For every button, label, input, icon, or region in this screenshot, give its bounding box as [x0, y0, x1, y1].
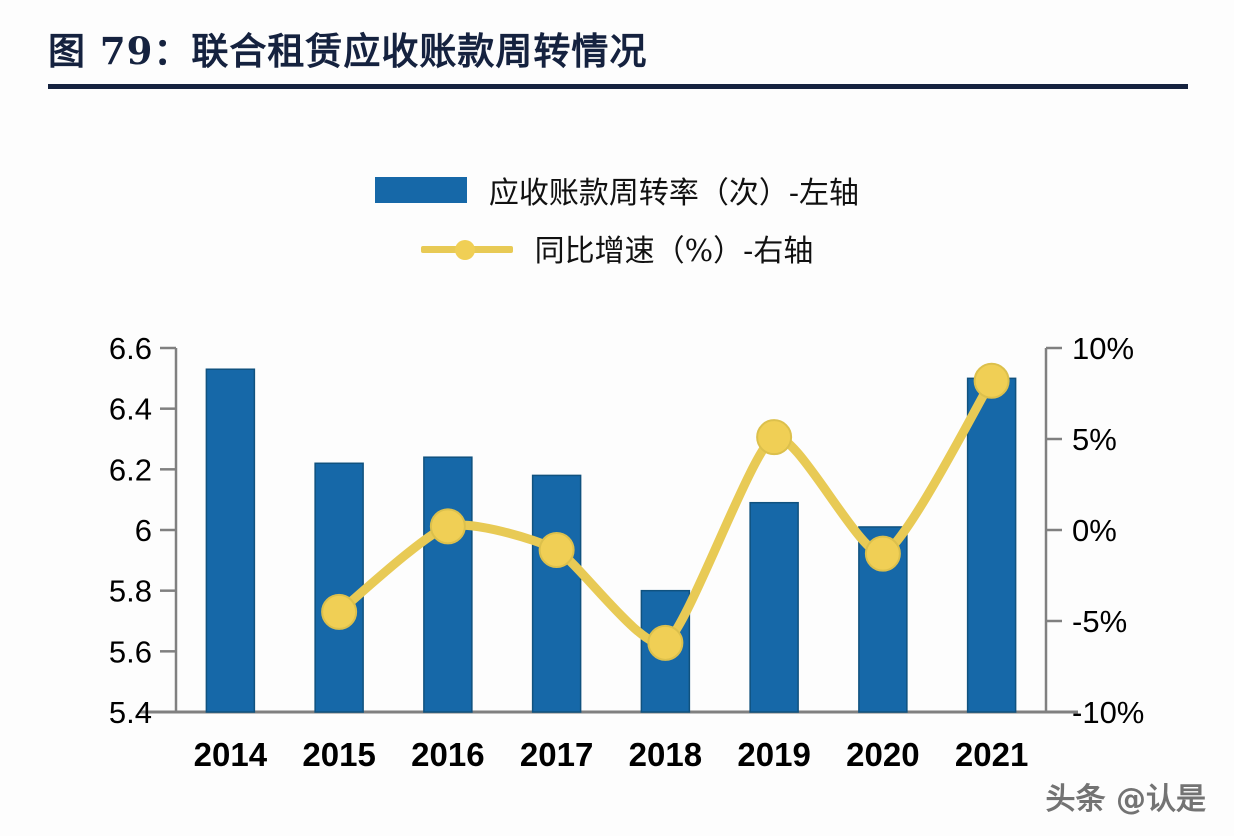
line-marker-2020	[866, 537, 900, 571]
axis-lines	[140, 348, 1078, 712]
line-series	[339, 381, 992, 644]
left-axis-tick-label: 6.4	[109, 392, 152, 427]
right-axis-tick-label: 5%	[1072, 422, 1117, 457]
x-axis-tick-label: 2018	[629, 736, 702, 773]
x-axis-tick-label: 2021	[955, 736, 1028, 773]
bar-2018	[641, 591, 689, 712]
line-markers	[322, 364, 1009, 660]
right-axis-tick-label: 10%	[1072, 331, 1134, 366]
right-axis-tick-label: 0%	[1072, 513, 1117, 548]
line-marker-2016	[431, 509, 465, 543]
bar-2017	[533, 475, 581, 712]
legend-item-label: 同比增速（%）-右轴	[535, 226, 814, 270]
line-marker-2015	[322, 595, 356, 629]
bar-2015	[315, 463, 363, 712]
x-axis-tick-label: 2015	[302, 736, 375, 773]
x-axis-tick-labels: 20142015201620172018201920202021	[194, 736, 1029, 773]
page-title: 图 79：联合租赁应收账款周转情况	[48, 28, 1188, 74]
bar-2014	[206, 369, 254, 712]
chart-legend: 应收账款周转率（次）-左轴 同比增速（%）-右轴	[0, 168, 1234, 270]
x-axis-tick-label: 2014	[194, 736, 268, 773]
line-marker-2018	[648, 626, 682, 660]
left-axis-tick-label: 5.8	[109, 574, 152, 609]
line-marker-2019	[757, 420, 791, 454]
legend-bar-swatch-icon	[375, 177, 467, 203]
chart-canvas: 6.66.46.265.85.65.4 10%5%0%-5%-10% 20142…	[0, 0, 1234, 836]
left-axis-ticks	[160, 348, 176, 712]
left-axis-tick-label: 6.2	[109, 452, 152, 487]
left-axis-tick-label: 5.6	[109, 634, 152, 669]
bar-2019	[750, 503, 798, 712]
growth-line	[339, 381, 992, 644]
legend-line-marker-icon	[421, 235, 513, 261]
x-axis-tick-label: 2019	[737, 736, 810, 773]
line-marker-2021	[975, 364, 1009, 398]
title-divider	[48, 84, 1188, 89]
right-axis-tick-label: -5%	[1072, 604, 1127, 639]
x-axis-tick-label: 2020	[846, 736, 919, 773]
bar-2021	[968, 378, 1016, 712]
legend-item-label: 应收账款周转率（次）-左轴	[489, 168, 859, 212]
left-axis-tick-labels: 6.66.46.265.85.65.4	[109, 331, 152, 730]
right-axis-tick-label: -10%	[1072, 695, 1144, 730]
left-axis-tick-label: 6.6	[109, 331, 152, 366]
bar-series	[206, 369, 1015, 712]
figure-header: 图 79：联合租赁应收账款周转情况	[48, 28, 1188, 89]
watermark-text: 头条 @认是	[1046, 774, 1206, 818]
line-marker-2017	[540, 533, 574, 567]
right-axis-ticks	[1046, 348, 1062, 712]
left-axis-tick-label: 6	[135, 513, 152, 548]
x-axis-tick-label: 2017	[520, 736, 593, 773]
bar-2020	[859, 527, 907, 712]
chart-svg: 6.66.46.265.85.65.4 10%5%0%-5%-10% 20142…	[0, 0, 1234, 836]
right-axis-tick-labels: 10%5%0%-5%-10%	[1072, 331, 1144, 730]
bar-2016	[424, 457, 472, 712]
legend-item-bar[interactable]: 应收账款周转率（次）-左轴	[375, 168, 859, 212]
left-axis-tick-label: 5.4	[109, 695, 152, 730]
figure-page: 图 79：联合租赁应收账款周转情况 应收账款周转率（次）-左轴 同比增速（%）-…	[0, 0, 1234, 836]
legend-item-line[interactable]: 同比增速（%）-右轴	[421, 226, 814, 270]
x-axis-tick-label: 2016	[411, 736, 484, 773]
